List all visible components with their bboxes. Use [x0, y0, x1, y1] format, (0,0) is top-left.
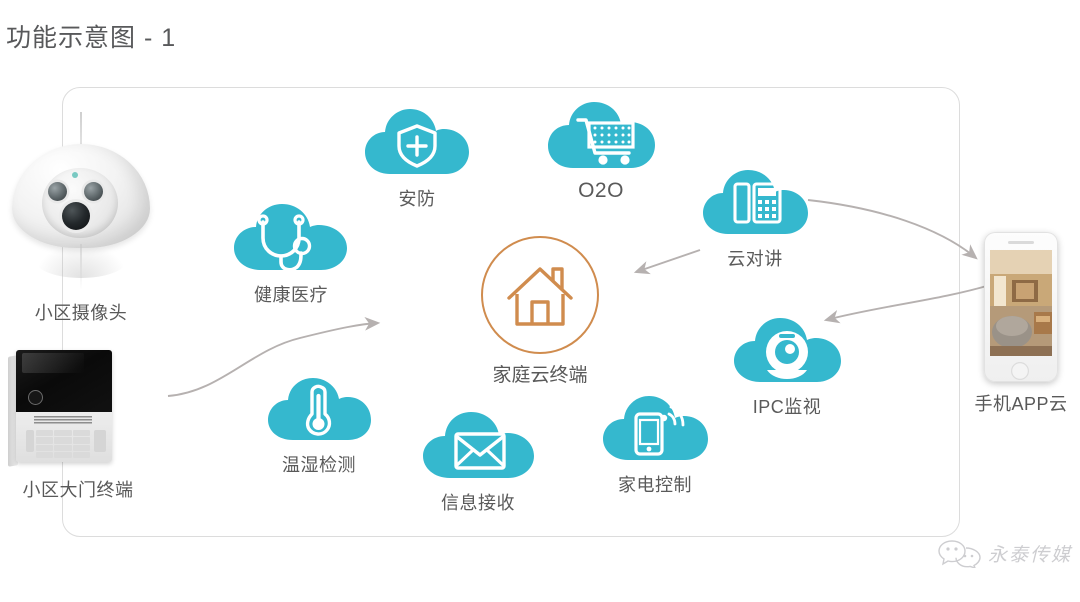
device-community-camera[interactable]: 小区摄像头	[6, 112, 156, 325]
cloud-node-message[interactable]: 信息接收	[412, 408, 544, 515]
cloud-node-intercom[interactable]: 云对讲	[692, 166, 818, 271]
webcam-icon	[731, 314, 843, 386]
cloud-node-temp-humidity[interactable]: 温湿检测	[256, 374, 382, 477]
device-camera-label: 小区摄像头	[6, 299, 156, 325]
cloud-label-o2o: O2O	[536, 179, 666, 203]
smartphone-icon	[984, 232, 1058, 382]
hub-label: 家庭云终端	[470, 360, 610, 387]
cloud-label-health: 健康医疗	[226, 281, 356, 307]
watermark: 永泰传媒	[938, 538, 1072, 568]
device-phone-label: 手机APP云	[963, 390, 1079, 416]
diagram-canvas: 功能示意图 - 1 小区摄像头	[0, 0, 1080, 602]
device-mobile-app-cloud[interactable]: 手机APP云	[963, 232, 1079, 416]
watermark-text: 永泰传媒	[988, 540, 1072, 567]
cloud-node-ipc[interactable]: IPC监视	[722, 314, 852, 419]
cloud-node-security[interactable]: 安防	[352, 104, 482, 211]
thermometer-icon	[265, 374, 373, 444]
cloud-label-intercom: 云对讲	[692, 245, 818, 271]
stethoscope-icon	[231, 200, 351, 274]
dome-camera-icon	[6, 112, 156, 297]
telephone-icon	[700, 166, 810, 238]
cloud-node-o2o[interactable]: O2O	[536, 96, 666, 203]
house-in-circle-icon	[481, 236, 599, 354]
cloud-label-temp-humidity: 温湿检测	[256, 451, 382, 477]
cloud-label-security: 安防	[352, 185, 482, 211]
shopping-cart-icon	[545, 96, 657, 172]
cloud-label-ipc: IPC监视	[722, 393, 852, 419]
cloud-label-message: 信息接收	[412, 489, 544, 515]
page-title: 功能示意图 - 1	[6, 18, 176, 54]
device-gate-terminal-label: 小区大门终端	[8, 476, 148, 502]
wechat-bubble-icon	[938, 538, 982, 568]
cloud-node-health[interactable]: 健康医疗	[226, 200, 356, 307]
envelope-icon	[420, 408, 536, 482]
central-home-cloud-terminal[interactable]: 家庭云终端	[470, 236, 610, 387]
phone-screen-room-image	[990, 250, 1052, 356]
shield-plus-icon	[363, 104, 471, 178]
cloud-label-appliance: 家电控制	[592, 471, 718, 497]
device-gate-terminal[interactable]: 小区大门终端	[8, 350, 148, 502]
phone-wifi-icon	[600, 392, 710, 464]
door-terminal-icon	[8, 350, 118, 470]
cloud-node-appliance[interactable]: 家电控制	[592, 392, 718, 497]
